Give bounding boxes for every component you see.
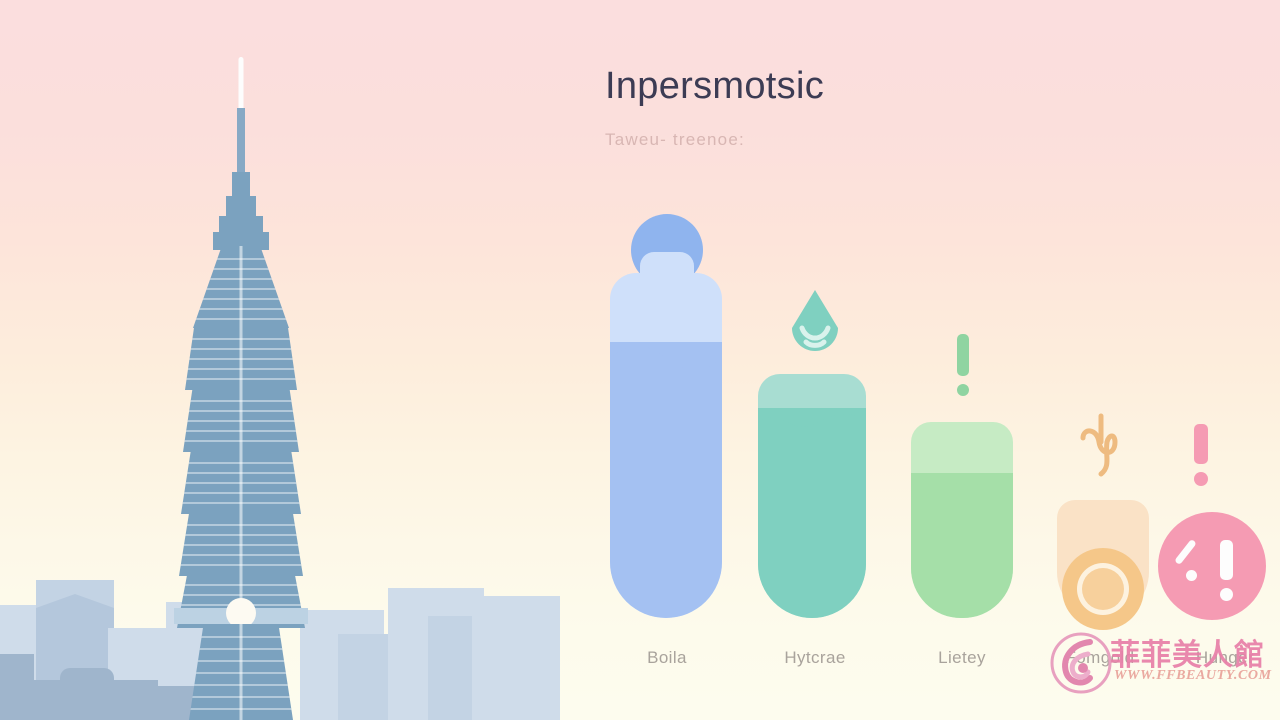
- bar-shape-boila: [610, 273, 722, 618]
- exclamation-tick-dot: [1186, 570, 1197, 581]
- exclamation-circle-dot: [1220, 588, 1233, 601]
- tower-emblem-circle: [226, 598, 256, 628]
- tower-module: [183, 390, 299, 452]
- exclamation-tick-icon: [1174, 539, 1197, 565]
- tower-spire: [237, 108, 245, 180]
- tower-crown: [193, 246, 289, 328]
- bar-shape-fomgold: [1057, 500, 1149, 618]
- taipei-101-tower: [176, 55, 306, 720]
- bar-column-fomgold[interactable]: Fomgold: [1035, 0, 1165, 720]
- bar-shape-hytcrae: [758, 374, 866, 618]
- droplet-icon: [786, 286, 844, 362]
- bar-chart: Boila Hytcrae: [560, 0, 1280, 720]
- bar-label-lietey: Lietey: [897, 648, 1027, 668]
- wave-crest: [610, 341, 722, 375]
- exclamation-circle-icon: [1158, 512, 1266, 620]
- bar-label-boila: Boila: [602, 648, 732, 668]
- tower-module: [181, 452, 301, 514]
- exclamation-dot-icon: [957, 384, 969, 396]
- bar-liquid-fill: [758, 408, 866, 618]
- bar-liquid-fill: [610, 342, 722, 618]
- tower-module: [185, 328, 297, 390]
- wave-crest: [758, 407, 866, 441]
- tower-module: [179, 514, 303, 576]
- skyline-building: [472, 596, 560, 720]
- exclamation-icon: [1194, 424, 1208, 464]
- wave-crest: [911, 472, 1013, 506]
- exclamation-circle-bar: [1220, 540, 1233, 580]
- bar-shape-lietey: [911, 422, 1013, 618]
- bar-column-hytcrae[interactable]: Hytcrae: [750, 0, 880, 720]
- curvy-arrow-icon: [1071, 412, 1133, 484]
- bar-column-lietey[interactable]: Lietey: [897, 0, 1027, 720]
- bar-label-hunger: Hunger: [1160, 648, 1280, 668]
- tower-spire-tip: [239, 57, 244, 115]
- ring-core-icon: [1082, 568, 1124, 610]
- bar-liquid-fill: [911, 473, 1013, 618]
- bar-label-hytcrae: Hytcrae: [750, 648, 880, 668]
- bar-column-hunger[interactable]: Hunger: [1170, 0, 1280, 720]
- chart-panel: Inpersmotsic Taweu- treenoe: Boila: [560, 0, 1280, 720]
- poster-canvas: Inpersmotsic Taweu- treenoe: Boila: [0, 0, 1280, 720]
- bar-column-boila[interactable]: Boila: [602, 0, 732, 720]
- exclamation-icon: [957, 334, 969, 376]
- exclamation-dot-icon: [1194, 472, 1208, 486]
- bar-label-fomgold: Fomgold: [1035, 648, 1165, 668]
- skyline-foreground-block: [60, 668, 114, 720]
- tower-base: [189, 624, 293, 720]
